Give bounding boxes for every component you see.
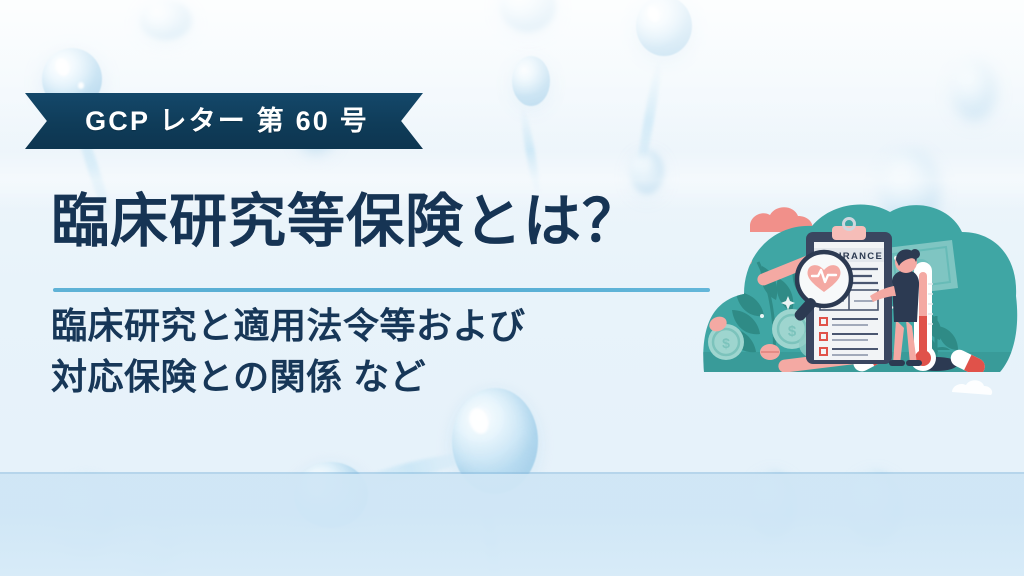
title-divider: [53, 288, 710, 292]
background-lower-band: [0, 474, 1024, 576]
slide-root: $ $ $: [0, 0, 1024, 576]
ribbon-label: GCP レター 第 60 号: [79, 108, 369, 135]
svg-text:$: $: [722, 335, 730, 351]
subtitle-line-2: 対応保険との関係 など: [51, 351, 691, 402]
background-band-edge: [0, 472, 1024, 474]
ribbon-shape: GCP レター 第 60 号: [25, 93, 423, 149]
issue-ribbon: GCP レター 第 60 号: [25, 93, 423, 149]
svg-text:$: $: [788, 323, 797, 340]
subtitle-line-1: 臨床研究と適用法令等および: [51, 300, 691, 351]
page-title: 臨床研究等保険とは？: [51, 190, 751, 255]
subtitle: 臨床研究と適用法令等および 対応保険との関係 など: [51, 300, 691, 402]
